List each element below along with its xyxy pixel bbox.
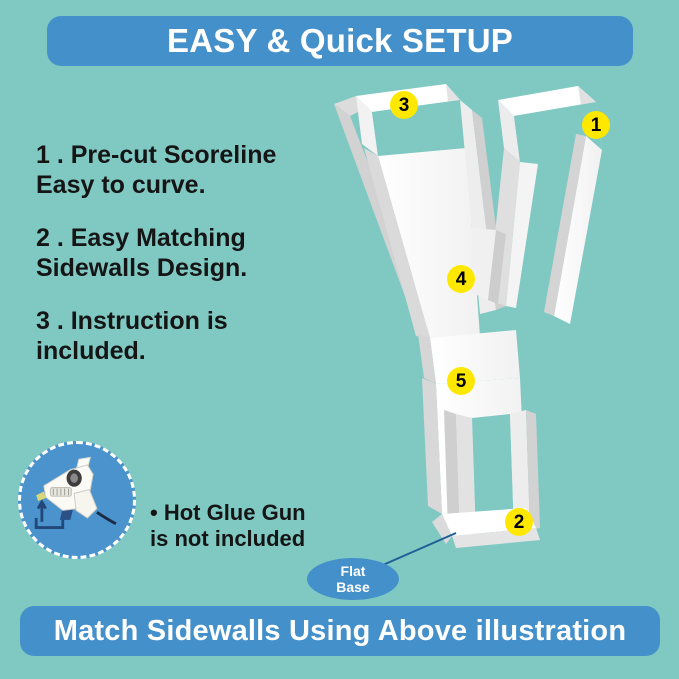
callout-badge-3-label: 3 [399,96,410,115]
callout-badge-4[interactable]: 4 [447,265,475,293]
top-banner-text: EASY & Quick SETUP [167,22,513,60]
hot-glue-gun-icon [21,444,133,556]
feature-item-2: 2 . Easy Matching Sidewalls Design. [36,224,336,283]
callout-badge-5[interactable]: 5 [447,367,475,395]
flat-base-callout: Flat Base [307,558,399,600]
feature-item-3-line1: 3 . Instruction is [36,307,336,337]
infographic-canvas: EASY & Quick SETUP 1 . Pre-cut Scoreline… [0,0,679,679]
callout-badge-2[interactable]: 2 [505,508,533,536]
bottom-banner: Match Sidewalls Using Above illustration [20,606,660,656]
callout-badge-1-label: 1 [591,116,602,135]
feature-item-1-line2: Easy to curve. [36,171,336,201]
callout-badge-4-label: 4 [456,270,467,289]
callout-badge-2-label: 2 [514,513,525,532]
feature-item-3-line2: included. [36,337,336,367]
feature-item-1-line1: 1 . Pre-cut Scoreline [36,141,336,171]
callout-badge-5-label: 5 [456,372,467,391]
bottom-banner-text: Match Sidewalls Using Above illustration [54,615,627,648]
callout-badge-3[interactable]: 3 [390,91,418,119]
feature-item-2-line2: Sidewalls Design. [36,254,336,284]
feature-item-3: 3 . Instruction is included. [36,307,336,366]
feature-item-2-line1: 2 . Easy Matching [36,224,336,254]
flat-base-callout-line2: Base [336,579,369,595]
feature-list: 1 . Pre-cut Scoreline Easy to curve. 2 .… [36,141,336,366]
feature-item-1: 1 . Pre-cut Scoreline Easy to curve. [36,141,336,200]
foam-letter-illustration [320,78,640,568]
glue-gun-badge-circle [18,441,136,559]
right-arm-outer-face [544,134,602,324]
top-banner: EASY & Quick SETUP [47,16,633,66]
flat-base-callout-line1: Flat [341,563,366,579]
callout-badge-1[interactable]: 1 [582,111,610,139]
